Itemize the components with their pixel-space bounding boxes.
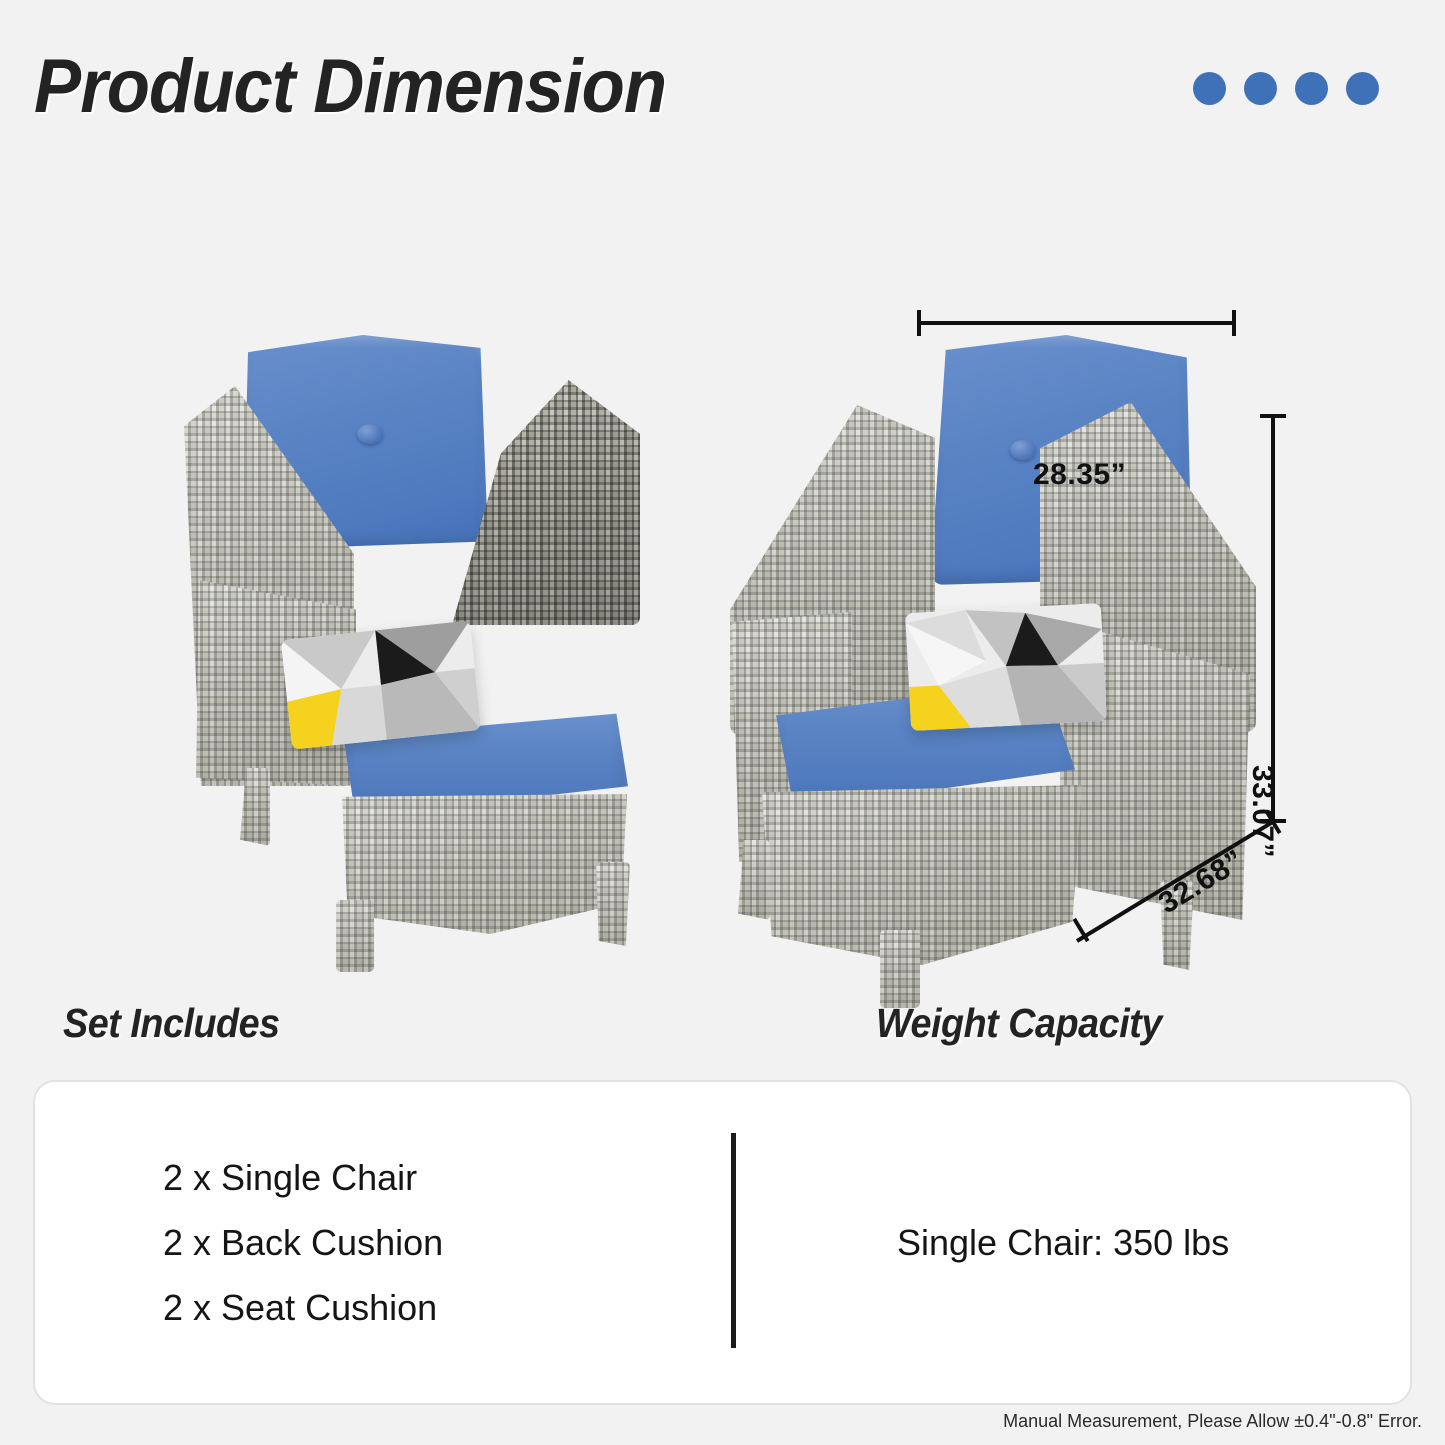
- chair-front-skirt: [342, 794, 627, 934]
- dimension-width-cap-left: [917, 310, 921, 336]
- chair-leg-center: [336, 900, 374, 972]
- product-image-stage: 28.35” 33.07” 32.68”: [0, 180, 1445, 980]
- dot-icon: [1346, 72, 1379, 105]
- decorative-dots: [1193, 72, 1379, 105]
- decorative-pillow: [281, 620, 481, 749]
- product-dimension-infographic: Product Dimension: [0, 0, 1445, 1445]
- cushion-tuft: [1010, 440, 1036, 460]
- dimension-width-label: 28.35”: [1033, 458, 1126, 492]
- set-includes-heading: Set Includes: [63, 1000, 280, 1047]
- list-item: 2 x Back Cushion: [163, 1225, 443, 1261]
- card-divider: [731, 1133, 736, 1348]
- set-includes-list: 2 x Single Chair 2 x Back Cushion 2 x Se…: [163, 1160, 443, 1355]
- dot-icon: [1193, 72, 1226, 105]
- dot-icon: [1244, 72, 1277, 105]
- chair-front-skirt: [762, 785, 1082, 965]
- chair-leg-front-right: [596, 862, 630, 946]
- dimension-height-line: [1271, 415, 1275, 823]
- measurement-footnote: Manual Measurement, Please Allow ±0.4"-0…: [1003, 1411, 1422, 1432]
- cushion-tuft: [357, 424, 383, 444]
- dimension-width-line: [918, 321, 1236, 325]
- weight-capacity-heading: Weight Capacity: [876, 1000, 1162, 1047]
- page-title: Product Dimension: [34, 43, 666, 130]
- chair-leg-center: [880, 930, 920, 1008]
- list-item: 2 x Single Chair: [163, 1160, 443, 1196]
- list-item: 2 x Seat Cushion: [163, 1290, 443, 1326]
- dimension-height-cap-top: [1260, 414, 1286, 418]
- decorative-pillow: [905, 603, 1107, 731]
- dot-icon: [1295, 72, 1328, 105]
- weight-capacity-value: Single Chair: 350 lbs: [897, 1222, 1229, 1264]
- dimension-width-cap-right: [1232, 310, 1236, 336]
